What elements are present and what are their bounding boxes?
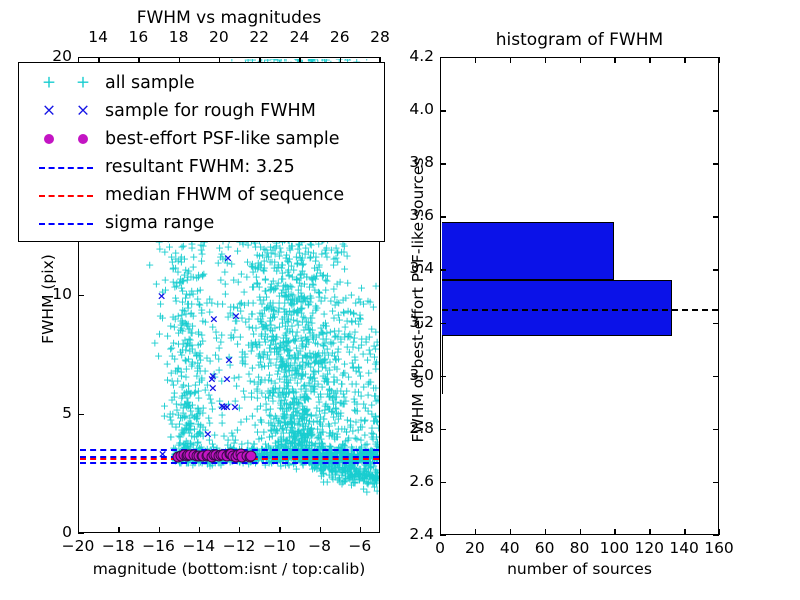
legend-label-2: best-effort PSF-like sample [105,128,340,150]
scatter-point-all-sample: + [145,260,154,271]
scatter-point-all-sample: + [272,280,281,291]
scatter-point-rough-sample: × [223,253,232,264]
scatter-point-all-sample: + [286,416,295,427]
scatter-point-all-sample: + [295,278,304,289]
right-x-tick-mark-top [719,57,720,63]
scatter-point-all-sample: + [349,337,358,348]
scatter-point-all-sample: + [221,288,230,299]
left-bottom-tick-mark [159,527,160,533]
legend-key-5 [27,212,105,234]
scatter-point-all-sample: + [199,269,208,280]
scatter-point-all-sample: + [311,300,320,311]
scatter-point-all-sample: + [281,327,290,338]
scatter-point-all-sample: + [355,464,364,475]
scatter-point-all-sample: + [369,301,378,312]
scatter-point-all-sample: + [361,415,370,426]
right-plot-xlabel: number of sources [440,560,719,578]
scatter-point-all-sample: + [292,308,301,319]
left-plot-top-tick-5: 24 [279,28,319,46]
scatter-point-all-sample: + [212,332,221,343]
scatter-point-all-sample: + [278,359,287,370]
right-y-tick-mark-right [713,110,719,111]
scatter-point-all-sample: + [177,350,186,361]
scatter-point-all-sample: + [214,354,223,365]
scatter-point-all-sample: + [172,296,181,307]
legend-entry-2: best-effort PSF-like sample [19,125,384,153]
plus-marker: + [42,75,56,92]
scatter-point-all-sample: + [292,252,301,263]
right-y-tick-mark-right [713,429,719,430]
right-plot-x-tick-8: 160 [697,539,741,557]
scatter-point-all-sample: + [343,278,352,289]
scatter-point-all-sample: + [274,262,283,273]
left-plot-y-tick-0: 0 [32,523,72,541]
left-y-tick-mark [78,57,84,58]
right-x-tick-mark-top [545,57,546,63]
scatter-point-all-sample: + [155,328,164,339]
scatter-point-rough-sample: × [231,311,240,322]
scatter-point-all-sample: + [349,309,358,320]
legend-key-2 [27,128,105,150]
scatter-point-all-sample: + [335,472,344,483]
right-y-tick-mark-right [713,376,719,377]
cross-marker: × [76,103,90,120]
scatter-point-all-sample: + [371,382,378,393]
scatter-point-all-sample: + [178,326,187,337]
scatter-point-all-sample: + [260,375,269,386]
scatter-point-all-sample: + [336,411,345,422]
scatter-point-all-sample: + [248,282,257,293]
right-x-tick-mark [510,529,511,535]
right-plot-title: histogram of FWHM [440,30,719,50]
left-plot-top-tick-2: 18 [159,28,199,46]
scatter-point-all-sample: + [309,349,318,360]
left-plot-top-tick-3: 20 [199,28,239,46]
legend-entry-1: ××sample for rough FWHM [19,97,384,125]
legend-key-0: ++ [27,72,105,94]
left-plot-top-tick-6: 26 [320,28,360,46]
scatter-point-all-sample: + [248,411,257,422]
scatter-point-all-sample: + [244,298,253,309]
scatter-point-all-sample: + [280,397,289,408]
scatter-point-all-sample: + [152,278,161,289]
scatter-point-all-sample: + [229,274,238,285]
right-x-tick-mark-top [684,57,685,63]
left-plot-top-tick-0: 14 [78,28,118,46]
left-plot-title: FWHM vs magnitudes [78,8,380,28]
histogram-resultant-fwhm-line [442,309,718,311]
right-y-tick-mark-right [713,216,719,217]
right-x-tick-mark [719,529,720,535]
scatter-point-all-sample: + [244,313,253,324]
legend-label-4: median FHWM of sequence [105,184,344,206]
legend-label-3: resultant FWHM: 3.25 [105,156,295,178]
scatter-point-all-sample: + [262,302,271,313]
scatter-point-all-sample: + [323,271,332,282]
scatter-point-all-sample: + [371,327,378,338]
scatter-point-all-sample: + [370,351,379,362]
left-y-tick-mark [78,533,84,534]
right-x-tick-mark-top [614,57,615,63]
scatter-point-all-sample: + [170,391,179,402]
right-y-tick-mark-right [713,269,719,270]
scatter-point-all-sample: + [179,380,188,391]
right-x-tick-mark [580,529,581,535]
scatter-point-all-sample: + [263,247,272,258]
left-plot-bottom-tick-3: −14 [177,537,221,555]
right-x-tick-mark [614,529,615,535]
right-x-tick-mark [684,529,685,535]
histogram-bar [442,222,615,280]
left-bottom-tick-mark [239,527,240,533]
right-plot-y-tick-9: 4.2 [392,47,434,65]
scatter-point-all-sample: + [349,394,358,405]
right-y-tick-mark-right [713,57,719,58]
scatter-point-all-sample: + [168,257,177,268]
right-y-tick-mark [440,57,446,58]
scatter-point-all-sample: + [337,397,346,408]
left-bottom-tick-mark [279,527,280,533]
scatter-point-all-sample: + [301,405,310,416]
legend-key-3 [27,156,105,178]
scatter-point-all-sample: + [317,249,326,260]
right-y-tick-mark [440,323,446,324]
right-plot-y-tick-8: 4.0 [392,100,434,118]
right-x-tick-mark [649,529,650,535]
right-x-tick-mark-top [649,57,650,63]
left-plot-bottom-tick-7: −6 [338,537,382,555]
left-plot-top-tick-1: 16 [118,28,158,46]
scatter-point-all-sample: + [333,279,342,290]
scatter-point-all-sample: + [238,347,247,358]
scatter-point-rough-sample: × [230,401,239,412]
left-plot-xlabel: magnitude (bottom:isnt / top:calib) [78,560,380,578]
left-plot-top-tick-4: 22 [239,28,279,46]
scatter-point-all-sample: + [362,478,371,489]
scatter-point-all-sample: + [269,414,278,425]
left-plot-bottom-tick-6: −8 [298,537,342,555]
right-y-tick-mark [440,376,446,377]
figure-canvas: FWHM vs magnitudes 1416182022242628 −20−… [0,0,800,600]
scatter-point-all-sample: + [177,252,186,263]
scatter-point-all-sample: + [354,362,363,373]
right-y-tick-mark [440,535,446,536]
legend-entry-3: resultant FWHM: 3.25 [19,153,384,181]
scatter-point-all-sample: + [347,379,356,390]
dashdot-line-swatch [39,223,93,225]
legend-box: ++all sample××sample for rough FWHMbest-… [18,62,385,242]
scatter-point-all-sample: + [328,306,337,317]
scatter-point-all-sample: + [257,319,266,330]
scatter-point-all-sample: + [172,277,181,288]
left-plot-bottom-tick-4: −12 [217,537,261,555]
right-y-tick-mark-right [713,482,719,483]
right-x-tick-mark-top [510,57,511,63]
sigma-range-lower-line [80,462,379,464]
scatter-point-all-sample: + [255,348,264,359]
right-y-tick-mark [440,429,446,430]
scatter-point-all-sample: + [372,415,379,426]
scatter-point-all-sample: + [216,274,225,285]
scatter-point-all-sample: + [313,424,322,435]
left-bottom-tick-mark [320,527,321,533]
scatter-point-all-sample: + [308,324,317,335]
scatter-point-all-sample: + [236,331,245,342]
dashed-line-swatch [39,195,93,197]
scatter-point-all-sample: + [333,431,342,442]
right-x-tick-mark [475,529,476,535]
scatter-point-rough-sample: × [203,429,212,440]
scatter-point-all-sample: + [336,337,345,348]
right-plot-ylabel: FWHM of best-effort PSF-like sources [409,130,427,470]
left-bottom-tick-mark [360,527,361,533]
right-x-tick-mark-top [580,57,581,63]
left-y-tick-mark [78,295,84,296]
right-y-tick-mark-right [713,535,719,536]
scatter-point-all-sample: + [188,321,197,332]
legend-entry-0: ++all sample [19,69,384,97]
scatter-point-rough-sample: × [208,382,217,393]
scatter-point-all-sample: + [334,353,343,364]
scatter-point-all-sample: + [166,321,175,332]
scatter-point-all-sample: + [308,464,317,475]
right-y-tick-mark-right [713,163,719,164]
scatter-point-all-sample: + [303,393,312,404]
scatter-point-all-sample: + [369,429,378,440]
scatter-point-all-sample: + [184,298,193,309]
right-plot-y-tick-1: 2.6 [392,472,434,490]
legend-label-5: sigma range [105,212,214,234]
legend-label-1: sample for rough FWHM [105,100,316,122]
scatter-point-all-sample: + [325,383,334,394]
scatter-point-all-sample: + [179,338,188,349]
scatter-point-all-sample: + [357,282,366,293]
scatter-point-all-sample: + [198,248,207,259]
left-bottom-tick-mark [199,527,200,533]
scatter-point-all-sample: + [176,412,185,423]
right-plot-y-tick-0: 2.4 [392,525,434,543]
left-plot-bottom-tick-2: −16 [137,537,181,555]
scatter-point-all-sample: + [248,262,257,273]
scatter-point-all-sample: + [183,274,192,285]
scatter-point-all-sample: + [356,297,365,308]
right-x-tick-mark-top [475,57,476,63]
scatter-point-psf-sample [246,451,257,462]
right-y-tick-mark [440,216,446,217]
legend-entry-4: median FHWM of sequence [19,181,384,209]
plus-marker: + [76,75,90,92]
scatter-point-all-sample: + [250,376,259,387]
legend-label-0: all sample [105,72,195,94]
right-y-tick-mark-right [713,323,719,324]
cross-marker: × [42,103,56,120]
right-y-tick-mark [440,482,446,483]
left-plot-ylabel: FWHM (pix) [39,239,57,359]
scatter-point-rough-sample: × [222,374,231,385]
right-x-tick-mark [545,529,546,535]
scatter-point-all-sample: + [253,427,262,438]
scatter-point-all-sample: + [334,326,343,337]
histogram-bar [442,336,444,394]
scatter-point-rough-sample: × [224,355,233,366]
right-y-tick-mark [440,110,446,111]
circle-marker [78,134,88,144]
legend-key-1: ×× [27,100,105,122]
scatter-point-all-sample: + [184,400,193,411]
right-y-tick-mark [440,269,446,270]
legend-key-4 [27,184,105,206]
scatter-point-all-sample: + [333,257,342,268]
scatter-point-all-sample: + [256,400,265,411]
scatter-point-all-sample: + [188,343,197,354]
left-plot-y-tick-1: 5 [32,404,72,422]
legend-entry-5: sigma range [19,209,384,237]
scatter-point-all-sample: + [298,340,307,351]
scatter-point-all-sample: + [177,310,186,321]
scatter-point-rough-sample: × [209,313,218,324]
scatter-point-all-sample: + [154,351,163,362]
left-plot-top-tick-7: 28 [360,28,400,46]
scatter-point-all-sample: + [266,403,275,414]
scatter-point-all-sample: + [338,294,347,305]
circle-marker [44,134,54,144]
scatter-point-all-sample: + [281,280,290,291]
scatter-point-all-sample: + [226,330,235,341]
scatter-point-rough-sample: × [157,291,166,302]
left-y-tick-mark [78,414,84,415]
right-plot-data-area [442,59,718,534]
dashed-line-swatch [39,167,93,169]
histogram-bar [442,280,672,336]
scatter-point-all-sample: + [373,394,378,405]
right-y-tick-mark [440,163,446,164]
left-plot-bottom-tick-5: −10 [257,537,301,555]
left-bottom-tick-mark [118,527,119,533]
scatter-point-all-sample: + [308,274,317,285]
scatter-point-all-sample: + [240,391,249,402]
left-plot-bottom-tick-1: −18 [96,537,140,555]
scatter-point-all-sample: + [309,369,318,380]
scatter-point-all-sample: + [188,359,197,370]
scatter-point-all-sample: + [371,281,378,292]
scatter-point-all-sample: + [346,421,355,432]
scatter-point-all-sample: + [347,466,356,477]
